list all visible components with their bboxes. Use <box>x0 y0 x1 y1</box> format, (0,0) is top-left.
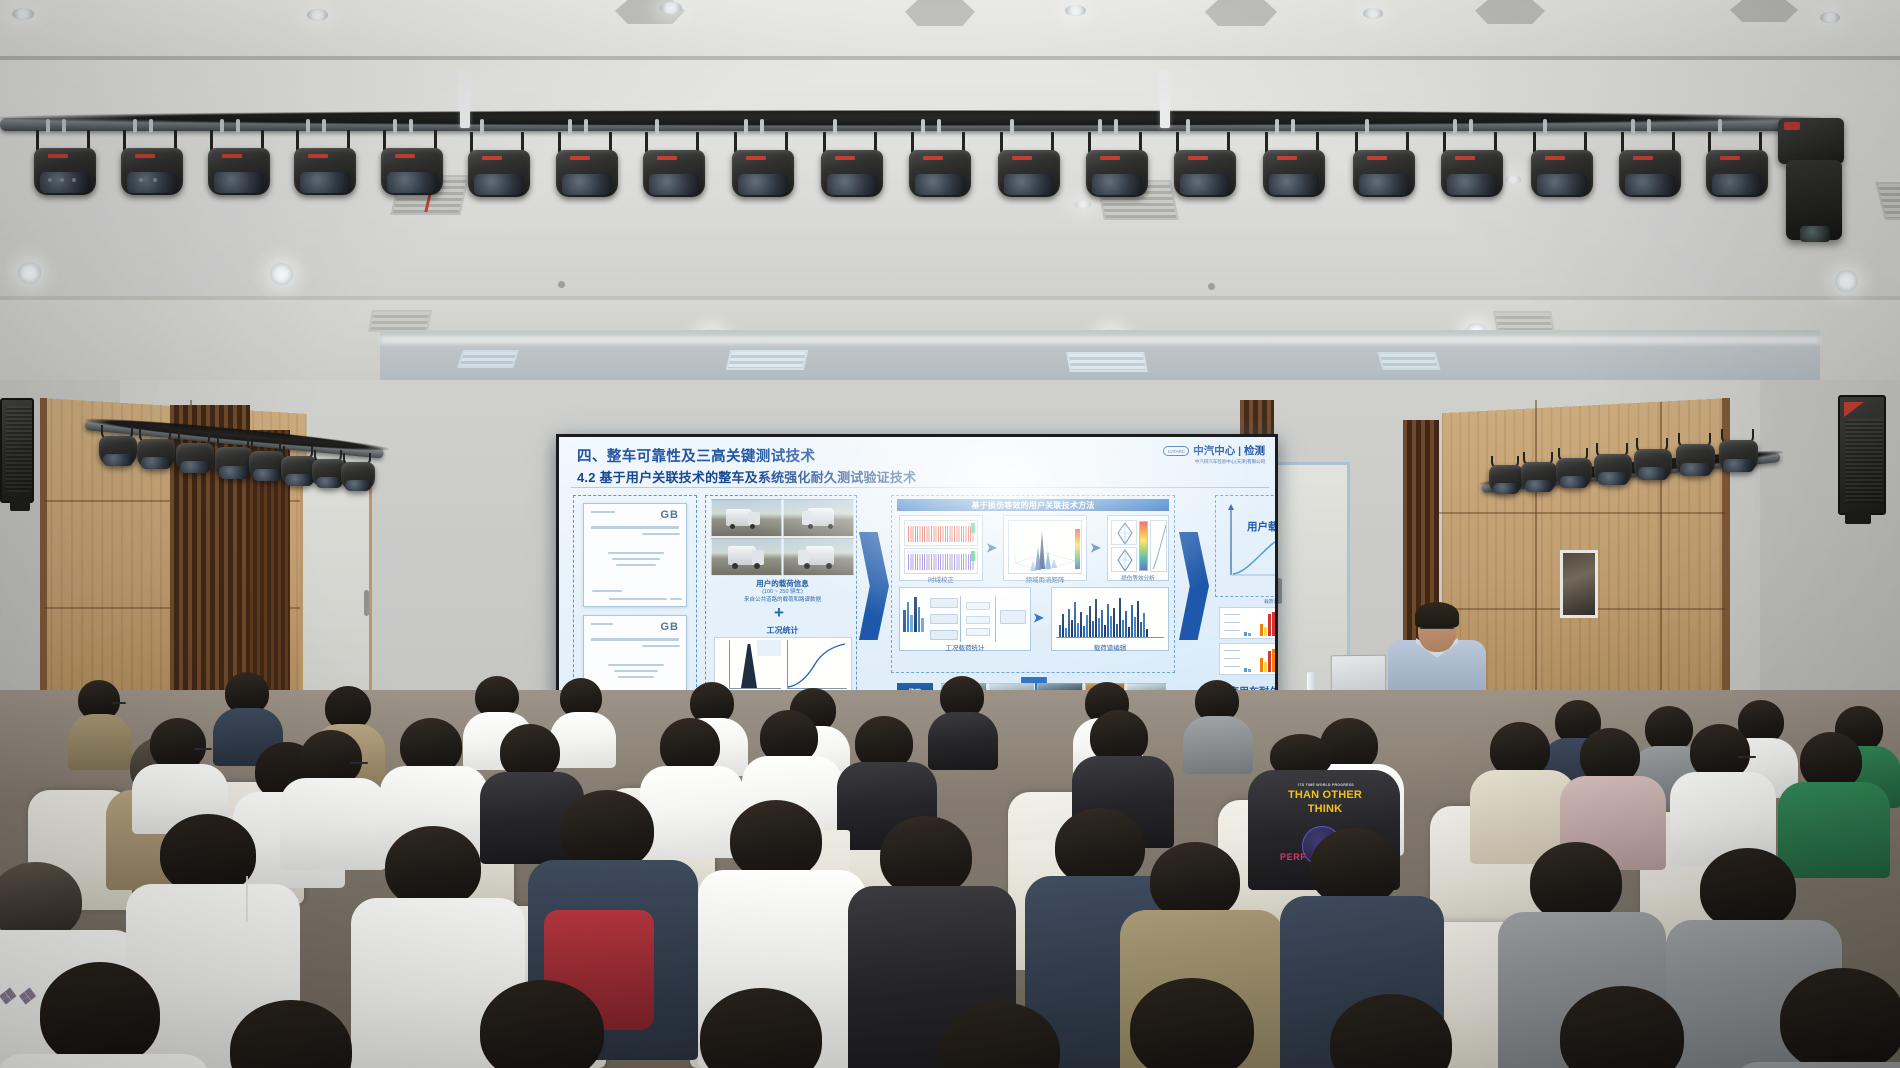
brand-subtitle: 中汽研汽车检验中心(天津)有限公司 <box>1163 459 1265 465</box>
person-body <box>68 714 132 770</box>
recessed-downlight <box>1820 12 1840 23</box>
soffit-cove-light <box>380 336 1820 344</box>
comparison-chart-note: 载荷谱损伤等效对比分析结果 <box>1219 599 1275 605</box>
flow-chevron-1 <box>859 532 889 640</box>
framed-picture <box>1560 550 1598 618</box>
glasses <box>112 702 126 704</box>
comparison-chart-top <box>1219 607 1275 639</box>
person-head <box>40 962 160 1066</box>
glasses <box>350 762 368 764</box>
recessed-downlight <box>307 9 328 21</box>
speaker-grille <box>6 406 32 492</box>
person-body <box>1732 1062 1900 1068</box>
slide-subtitle: 4.2 基于用户关联技术的整车及系统强化耐久测试验证技术 <box>577 467 916 486</box>
load-spectrum-chart: 用户载荷谱 耐久性试验(加速) 95% 安全 <box>1223 501 1275 591</box>
mini-bars <box>903 594 925 632</box>
ceiling-reflector <box>1475 0 1545 24</box>
method-cell-spectrum-bars: 载荷谱编辑 <box>1051 587 1169 651</box>
person-body <box>550 712 616 768</box>
method-cell-caption: 载荷谱编辑 <box>1052 642 1168 652</box>
method-cell-time-domain: 时域校正 <box>899 515 983 581</box>
glasses <box>194 748 212 750</box>
person-head <box>730 800 822 880</box>
person-body <box>0 1054 210 1068</box>
truck-photo-4 <box>783 538 854 576</box>
person-head <box>1700 848 1796 930</box>
earphone-cable <box>246 876 248 922</box>
load-histogram-chart <box>714 637 852 693</box>
person-body <box>280 778 386 870</box>
slide-section-title: 四、整车可靠性及三高关键测试技术 <box>577 445 815 466</box>
stats-label: 工况统计 <box>711 625 854 636</box>
person-head <box>1055 808 1145 886</box>
person-head <box>1530 842 1622 922</box>
speaker-mount <box>1845 512 1871 524</box>
light-gel-frame <box>460 72 470 128</box>
wood-wall-edge <box>40 398 47 728</box>
recessed-downlight <box>1835 270 1858 292</box>
method-cell-rainflow: 频域雨流矩阵 <box>1003 515 1087 581</box>
soffit-vent <box>726 350 809 370</box>
person-head <box>1310 828 1400 906</box>
speaker-logo-triangle <box>1844 402 1864 417</box>
speaker-mount <box>10 500 30 511</box>
truss-cable-bundle <box>0 110 1820 126</box>
wall-speaker-right <box>1838 395 1886 515</box>
method-cell-caption: 时域校正 <box>900 574 982 584</box>
tshirt-line-1: THAN OTHER <box>1262 790 1388 801</box>
method-cell-damage: 损伤等效分析 <box>1107 515 1169 581</box>
field-data-caption-2: (100 ~ 250 辆车) <box>711 587 854 595</box>
ceiling-reflector <box>1730 0 1798 22</box>
flow-chevron-2 <box>1179 532 1209 640</box>
truck-photo-2 <box>783 499 854 537</box>
person-head <box>385 826 481 908</box>
person-body <box>1183 716 1253 774</box>
recessed-downlight <box>660 2 682 14</box>
person-head <box>150 718 206 770</box>
method-panel-header: 基于损伤等效的用户关联技术方法 <box>897 499 1169 511</box>
wood-seam <box>1535 400 1537 726</box>
comparison-chart-bottom <box>1219 643 1275 675</box>
gb-mark: GB <box>661 621 680 633</box>
slide-title-divider <box>571 487 1269 488</box>
person-body <box>928 712 998 770</box>
flow-arrow-right: ➤ <box>1033 611 1044 624</box>
method-cell-caption: 损伤等效分析 <box>1108 574 1168 582</box>
person-body <box>640 766 744 858</box>
recessed-downlight <box>1505 175 1521 184</box>
ceiling-reflector <box>1205 0 1277 26</box>
person-head <box>0 862 82 940</box>
slide-brand-logo: CATARC 中汽中心 | 检测 中汽研汽车检验中心(天津)有限公司 <box>1163 443 1265 465</box>
load-spectrum-svg <box>1223 501 1275 591</box>
recessed-downlight <box>1075 200 1091 209</box>
soffit-vent <box>1377 352 1440 370</box>
person-body <box>1778 782 1890 878</box>
person-head <box>160 814 256 894</box>
method-cell-caption: 工况载荷统计 <box>900 642 1030 652</box>
plus-icon: + <box>774 604 784 621</box>
person-head <box>1150 842 1240 920</box>
person-head <box>1780 968 1900 1068</box>
moving-head-indicator <box>1784 122 1800 130</box>
tshirt-top-line: ITS TIME WORLD PROGRESS <box>1288 784 1364 788</box>
recessed-downlight <box>1363 8 1383 19</box>
recessed-downlight <box>1065 5 1086 16</box>
method-cell-caption: 频域雨流矩阵 <box>1004 574 1086 584</box>
tshirt-brand: PERF <box>1280 852 1306 862</box>
wood-seam <box>1405 512 1725 514</box>
sprinkler-head <box>1208 283 1215 290</box>
rainflow-3d-surface <box>1009 521 1082 574</box>
truck-photo-3 <box>711 538 782 576</box>
recessed-downlight <box>12 8 34 20</box>
gb-standard-doc-1: GB <box>583 503 687 607</box>
person-head <box>880 816 972 896</box>
tshirt-script-logo: ❖❖ <box>0 984 35 1010</box>
flow-arrow-right: ➤ <box>986 541 997 554</box>
conference-hall-scene: 四、整车可靠性及三高关键测试技术 4.2 基于用户关联技术的整车及系统强化耐久测… <box>0 0 1900 1068</box>
field-data-caption-3: 来自公共道路的载荷和路谱数据 <box>711 595 854 603</box>
ceiling-reflector <box>905 0 975 26</box>
soffit-vent <box>457 350 519 368</box>
presenter-glasses <box>1420 628 1454 629</box>
brand-name: 中汽中心 | 检测 <box>1193 443 1265 458</box>
cumulative-curve <box>787 642 847 688</box>
speaker-grille <box>1845 419 1883 503</box>
method-cell-workflow: 工况载荷统计 <box>899 587 1031 651</box>
tshirt-line-2: THINK <box>1262 804 1388 815</box>
spectrum-label: 用户载荷谱 <box>1247 519 1275 534</box>
glasses <box>1738 756 1756 758</box>
recessed-downlight <box>270 263 293 285</box>
presenter-hair <box>1415 602 1459 628</box>
hvac-vent <box>368 310 432 332</box>
recessed-downlight <box>18 262 41 284</box>
brand-oval-mark: CATARC <box>1163 446 1189 456</box>
person-head <box>560 790 654 870</box>
flow-arrow-right: ➤ <box>1090 541 1101 554</box>
truck-photo-1 <box>711 499 782 537</box>
sprinkler-head <box>558 281 565 288</box>
moving-head-lens <box>1800 226 1830 242</box>
gb-mark: GB <box>661 509 680 521</box>
wall-speaker-left <box>0 398 34 503</box>
soffit-vent <box>1066 352 1148 372</box>
door-handle <box>364 590 369 616</box>
light-gel-frame <box>1160 72 1170 128</box>
